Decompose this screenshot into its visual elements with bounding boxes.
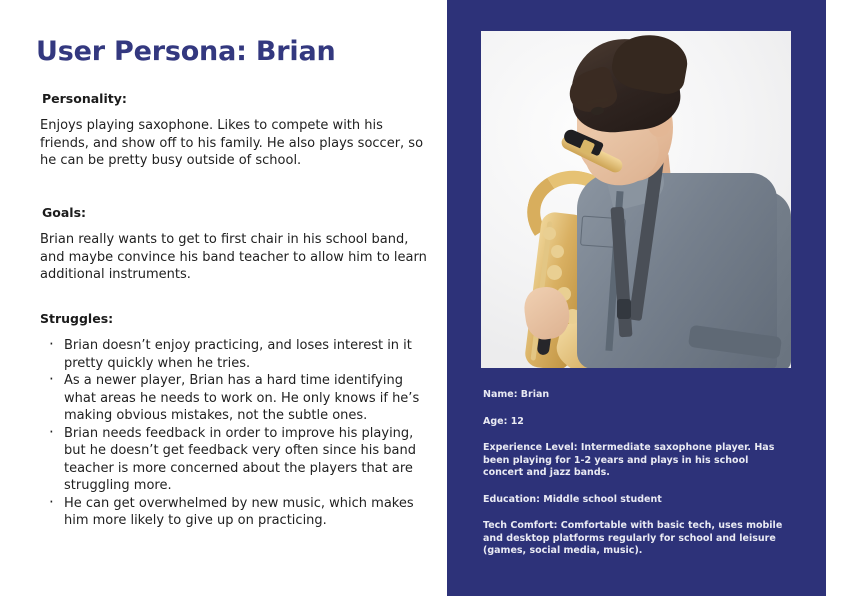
detail-tech-comfort: Tech Comfort: Comfortable with basic tec… xyxy=(483,520,789,558)
saxophone-key-shape xyxy=(543,227,556,240)
section-body-personality: Enjoys playing saxophone. Likes to compe… xyxy=(40,117,430,170)
persona-photo xyxy=(481,31,791,368)
list-item: As a newer player, Brian has a hard time… xyxy=(40,372,430,425)
page-title: User Persona: Brian xyxy=(36,36,336,67)
detail-age: Age: 12 xyxy=(483,416,789,429)
persona-left-column: User Persona: Brian Personality: Enjoys … xyxy=(0,0,447,596)
struggles-list: Brian doesn’t enjoy practicing, and lose… xyxy=(40,337,430,530)
sax-strap-ring-shape xyxy=(617,299,631,319)
detail-education: Education: Middle school student xyxy=(483,494,789,507)
detail-experience: Experience Level: Intermediate saxophone… xyxy=(483,442,789,480)
saxophone-key-shape xyxy=(551,245,564,258)
list-item: Brian needs feedback in order to improve… xyxy=(40,425,430,495)
section-heading-goals: Goals: xyxy=(42,205,430,220)
saxophone-key-shape xyxy=(547,265,562,280)
persona-details: Name: Brian Age: 12 Experience Level: In… xyxy=(483,389,789,558)
section-heading-struggles: Struggles: xyxy=(40,311,430,326)
section-struggles: Struggles: Brian doesn’t enjoy practicin… xyxy=(40,311,430,530)
section-goals: Goals: Brian really wants to get to firs… xyxy=(40,205,430,284)
list-item: He can get overwhelmed by new music, whi… xyxy=(40,495,430,530)
persona-right-panel: Name: Brian Age: 12 Experience Level: In… xyxy=(447,0,826,596)
section-personality: Personality: Enjoys playing saxophone. L… xyxy=(40,91,430,170)
section-body-goals: Brian really wants to get to first chair… xyxy=(40,231,430,284)
section-heading-personality: Personality: xyxy=(42,91,430,106)
detail-name: Name: Brian xyxy=(483,389,789,402)
list-item: Brian doesn’t enjoy practicing, and lose… xyxy=(40,337,430,372)
